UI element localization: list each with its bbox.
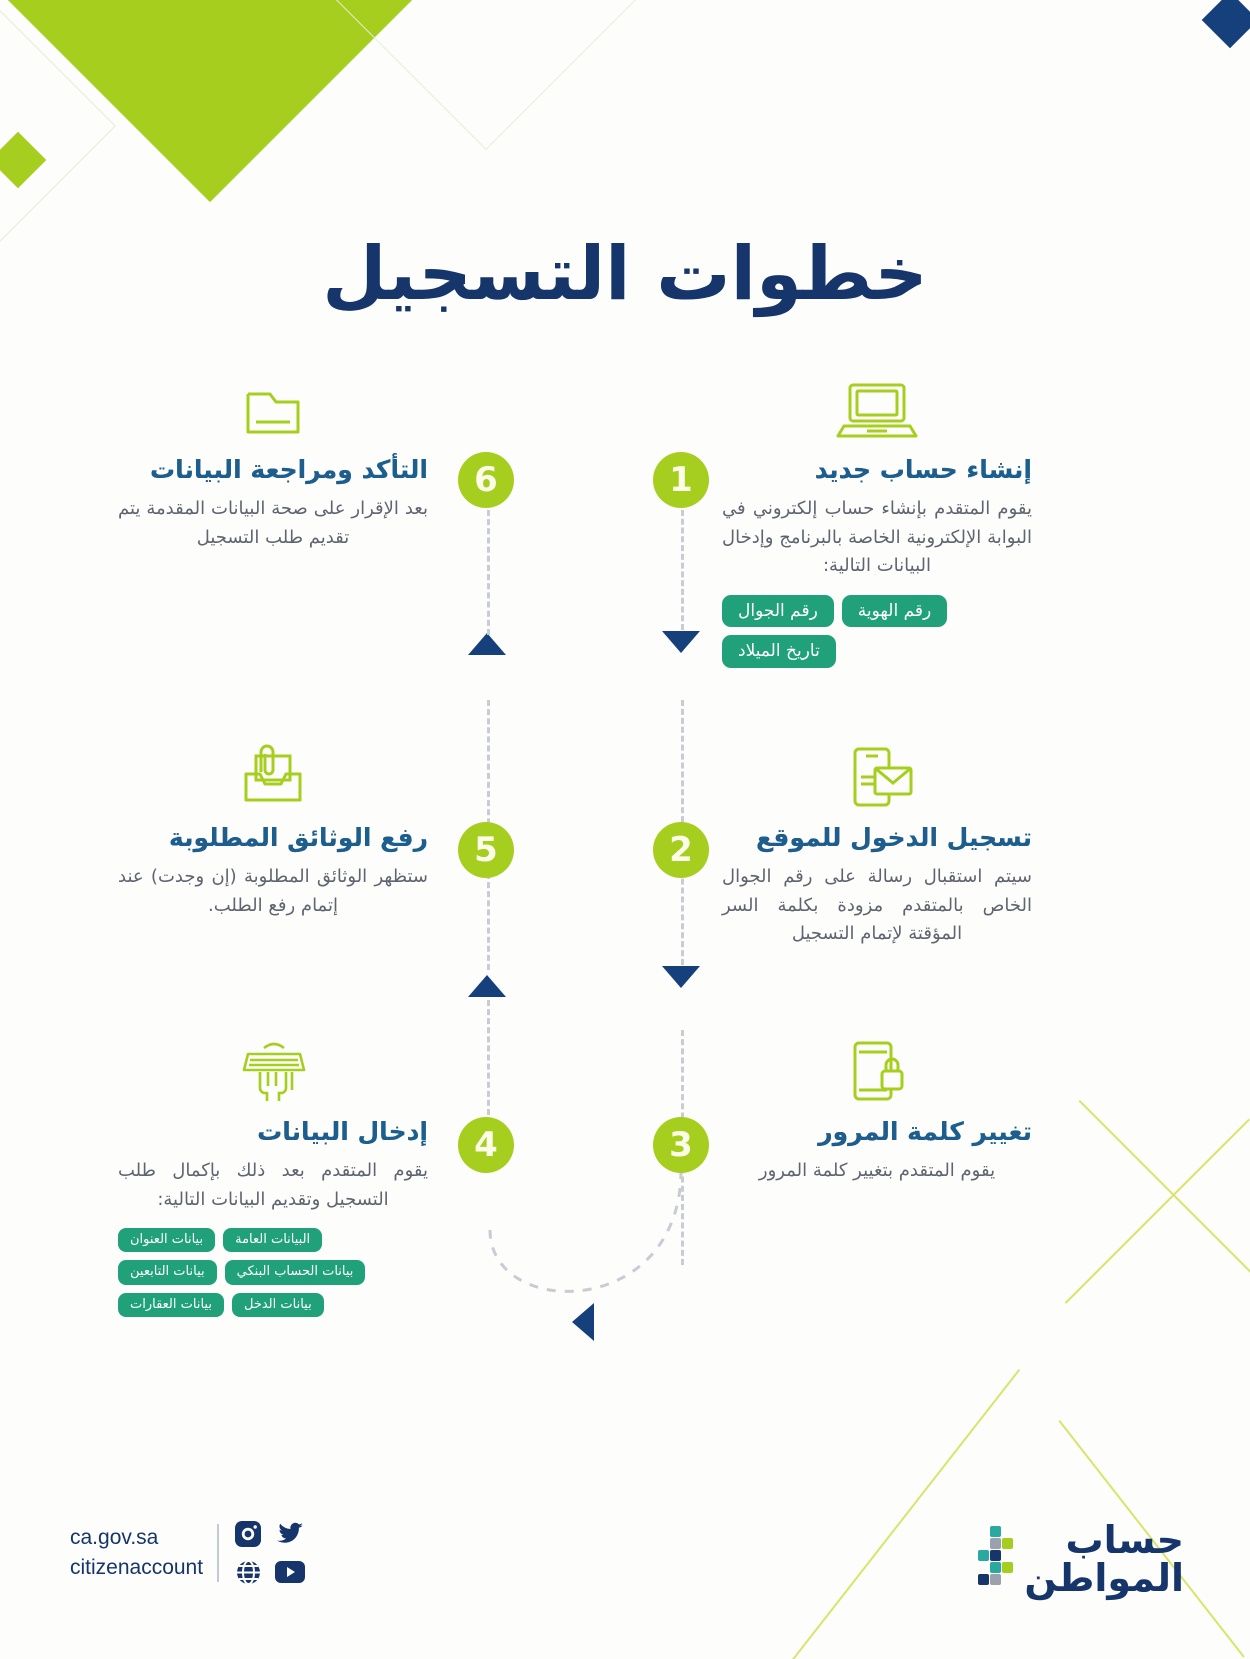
- step-circle-4[interactable]: 4: [458, 1117, 514, 1173]
- step-block-2: تسجيل الدخول للموقع سيتم استقبال رسالة ع…: [722, 748, 1032, 949]
- folder-icon: [118, 380, 428, 440]
- pill-identity-number[interactable]: رقم الهوية: [842, 595, 947, 628]
- youtube-icon[interactable]: [275, 1557, 305, 1587]
- arrow-left-curve: [572, 1303, 594, 1341]
- social-icon-grid: [233, 1519, 305, 1587]
- logo-wordmark: حساب المواطن: [1024, 1521, 1184, 1597]
- pill-bank-account-data[interactable]: بيانات الحساب البنكي: [225, 1260, 366, 1284]
- pill-address-data[interactable]: بيانات العنوان: [118, 1228, 215, 1252]
- step-title-2: تسجيل الدخول للموقع: [722, 822, 1032, 853]
- pill-general-data[interactable]: البيانات العامة: [223, 1228, 322, 1252]
- footer: ca.gov.sa citizenaccount حساب المواطن: [0, 1429, 1250, 1659]
- infographic-page: خطوات التسجيل 1 2 3 4 5 6: [0, 0, 1250, 1659]
- step-circle-6[interactable]: 6: [458, 452, 514, 508]
- step-block-6: التأكد ومراجعة البيانات بعد الإقرار على …: [118, 380, 428, 552]
- phone-message-icon: [722, 748, 1032, 808]
- step-4-pills: البيانات العامة بيانات العنوان بيانات ال…: [118, 1228, 428, 1317]
- dash-line-1-2: [681, 510, 684, 630]
- step-block-5: رفع الوثائق المطلوبة ستظهر الوثائق المطل…: [118, 748, 428, 920]
- footer-social-block: ca.gov.sa citizenaccount: [70, 1519, 305, 1587]
- step-desc-6: بعد الإقرار على صحة البيانات المقدمة يتم…: [118, 495, 428, 552]
- pill-birth-date[interactable]: تاريخ الميلاد: [722, 635, 836, 668]
- step-circle-2[interactable]: 2: [653, 822, 709, 878]
- instagram-icon[interactable]: [233, 1519, 263, 1549]
- arrow-down-2: [662, 966, 700, 988]
- laptop-icon: [722, 380, 1032, 440]
- step-title-6: التأكد ومراجعة البيانات: [118, 454, 428, 485]
- step-block-4: إدخال البيانات يقوم المتقدم بعد ذلك بإكم…: [118, 1042, 428, 1317]
- phone-lock-icon: [722, 1042, 1032, 1102]
- step-block-1: إنشاء حساب جديد يقوم المتقدم بإنشاء حساب…: [722, 380, 1032, 668]
- step-desc-4: يقوم المتقدم بعد ذلك بإكمال طلب التسجيل …: [118, 1157, 428, 1214]
- keyboard-hands-icon: [118, 1042, 428, 1102]
- step-title-3: تغيير كلمة المرور: [722, 1116, 1032, 1147]
- step-title-5: رفع الوثائق المطلوبة: [118, 822, 428, 853]
- footer-divider: [217, 1524, 219, 1582]
- pill-dependents-data[interactable]: بيانات التابعين: [118, 1260, 217, 1284]
- pill-property-data[interactable]: بيانات العقارات: [118, 1293, 224, 1317]
- footer-website[interactable]: ca.gov.sa: [70, 1523, 203, 1553]
- step-desc-1: يقوم المتقدم بإنشاء حساب إلكتروني في الب…: [722, 495, 1032, 580]
- document-tray-icon: [118, 748, 428, 808]
- step-block-3: تغيير كلمة المرور يقوم المتقدم بتغيير كل…: [722, 1042, 1032, 1186]
- step-circle-1[interactable]: 1: [653, 452, 709, 508]
- pill-mobile-number[interactable]: رقم الجوال: [722, 595, 834, 628]
- footer-links: ca.gov.sa citizenaccount: [70, 1523, 203, 1584]
- step-1-pills: رقم الهوية رقم الجوال تاريخ الميلاد: [722, 595, 1032, 668]
- citizen-account-logo-mark: [962, 1524, 1014, 1594]
- twitter-icon[interactable]: [275, 1519, 305, 1549]
- step-desc-3: يقوم المتقدم بتغيير كلمة المرور: [722, 1157, 1032, 1185]
- arrow-up-2: [468, 633, 506, 655]
- step-desc-5: ستظهر الوثائق المطلوبة (إن وجدت) عند إتم…: [118, 863, 428, 920]
- arrow-down-1: [662, 631, 700, 653]
- footer-handle[interactable]: citizenaccount: [70, 1553, 203, 1583]
- globe-icon[interactable]: [233, 1557, 263, 1587]
- pill-income-data[interactable]: بيانات الدخل: [232, 1293, 324, 1317]
- arrow-up-1: [468, 975, 506, 997]
- step-title-4: إدخال البيانات: [118, 1116, 428, 1147]
- citizen-account-logo: حساب المواطن: [962, 1521, 1184, 1597]
- step-circle-5[interactable]: 5: [458, 822, 514, 878]
- logo-line-top: حساب: [1024, 1521, 1184, 1559]
- step-title-1: إنشاء حساب جديد: [722, 454, 1032, 485]
- dash-line-6-top: [487, 510, 490, 635]
- logo-line-bottom: المواطن: [1024, 1559, 1184, 1597]
- dash-line-4-5: [487, 1000, 490, 1115]
- step-circle-3[interactable]: 3: [653, 1117, 709, 1173]
- step-desc-2: سيتم استقبال رسالة على رقم الجوال الخاص …: [722, 863, 1032, 948]
